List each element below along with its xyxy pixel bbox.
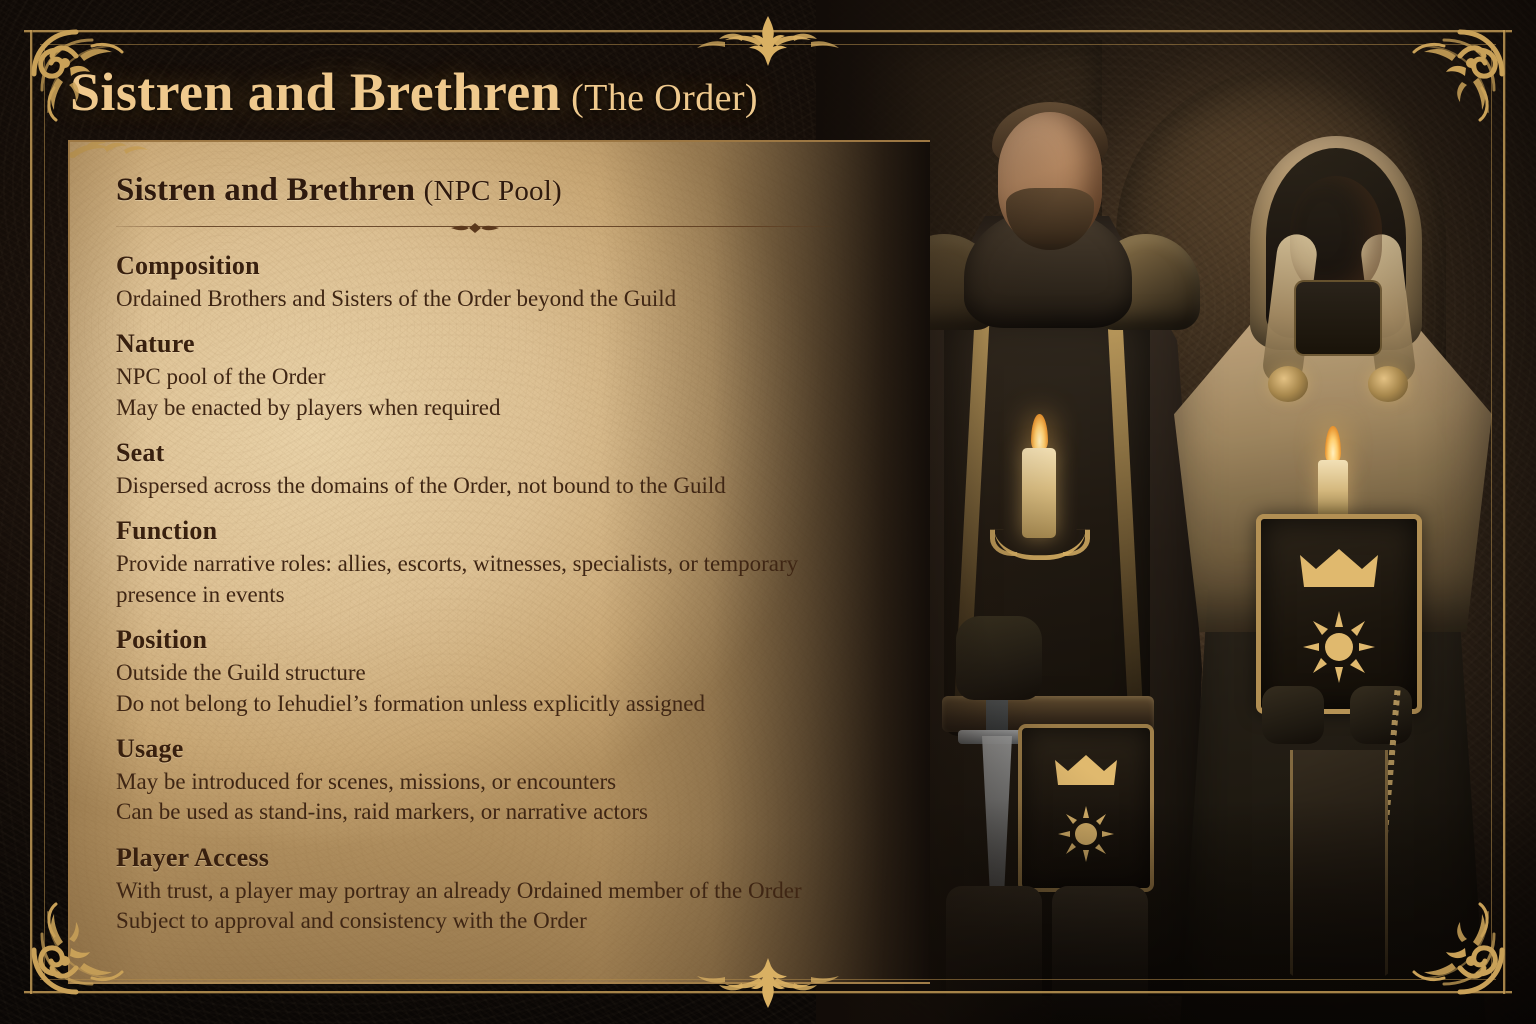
section-title: Position <box>116 625 876 655</box>
panel-content: Sistren and Brethren (NPC Pool) Composit… <box>116 172 876 951</box>
sections-list: CompositionOrdained Brothers and Sisters… <box>116 251 876 936</box>
section-title: Nature <box>116 329 876 359</box>
heading-divider <box>116 221 834 233</box>
section-title: Seat <box>116 438 876 468</box>
title-sub-text: (The Order) <box>571 77 758 119</box>
panel-heading-main: Sistren and Brethren <box>116 172 415 208</box>
section-line: Provide narrative roles: allies, escorts… <box>116 549 816 610</box>
section-line: May be introduced for scenes, missions, … <box>116 767 816 797</box>
frame-rule-left-inner <box>44 44 45 980</box>
divider-ornament-icon <box>448 221 502 233</box>
section-line: NPC pool of the Order <box>116 362 816 392</box>
title-main-text: Sistren and Brethren <box>70 62 561 122</box>
section-title: Player Access <box>116 843 876 873</box>
frame-rule-left <box>30 30 33 994</box>
lore-panel: Sistren and Brethren (NPC Pool) Composit… <box>68 140 930 984</box>
lore-section: PositionOutside the Guild structureDo no… <box>116 625 876 719</box>
section-title: Composition <box>116 251 876 281</box>
lore-section: SeatDispersed across the domains of the … <box>116 438 876 501</box>
panel-heading: Sistren and Brethren (NPC Pool) <box>116 172 876 209</box>
title-band: Sistren and Brethren(The Order) <box>70 54 970 130</box>
order-lore-card: Sistren and Brethren(The Order) Sistren … <box>0 0 1536 1024</box>
section-line: Ordained Brothers and Sisters of the Ord… <box>116 284 816 314</box>
panel-heading-sub: (NPC Pool) <box>424 175 562 207</box>
section-line: May be enacted by players when required <box>116 393 816 423</box>
lore-section: CompositionOrdained Brothers and Sisters… <box>116 251 876 314</box>
lore-section: Player AccessWith trust, a player may po… <box>116 843 876 937</box>
section-line: Subject to approval and consistency with… <box>116 906 816 936</box>
section-line: Do not belong to Iehudiel’s formation un… <box>116 689 816 719</box>
lore-section: FunctionProvide narrative roles: allies,… <box>116 516 876 610</box>
section-line: Outside the Guild structure <box>116 658 816 688</box>
section-title: Function <box>116 516 876 546</box>
lore-section: NatureNPC pool of the OrderMay be enacte… <box>116 329 876 423</box>
lore-section: UsageMay be introduced for scenes, missi… <box>116 734 876 828</box>
section-line: Dispersed across the domains of the Orde… <box>116 471 816 501</box>
section-line: Can be used as stand-ins, raid markers, … <box>116 797 816 827</box>
section-line: With trust, a player may portray an alre… <box>116 876 816 906</box>
page-title: Sistren and Brethren(The Order) <box>70 61 758 123</box>
leaf-sprig-icon <box>68 140 186 170</box>
section-title: Usage <box>116 734 876 764</box>
